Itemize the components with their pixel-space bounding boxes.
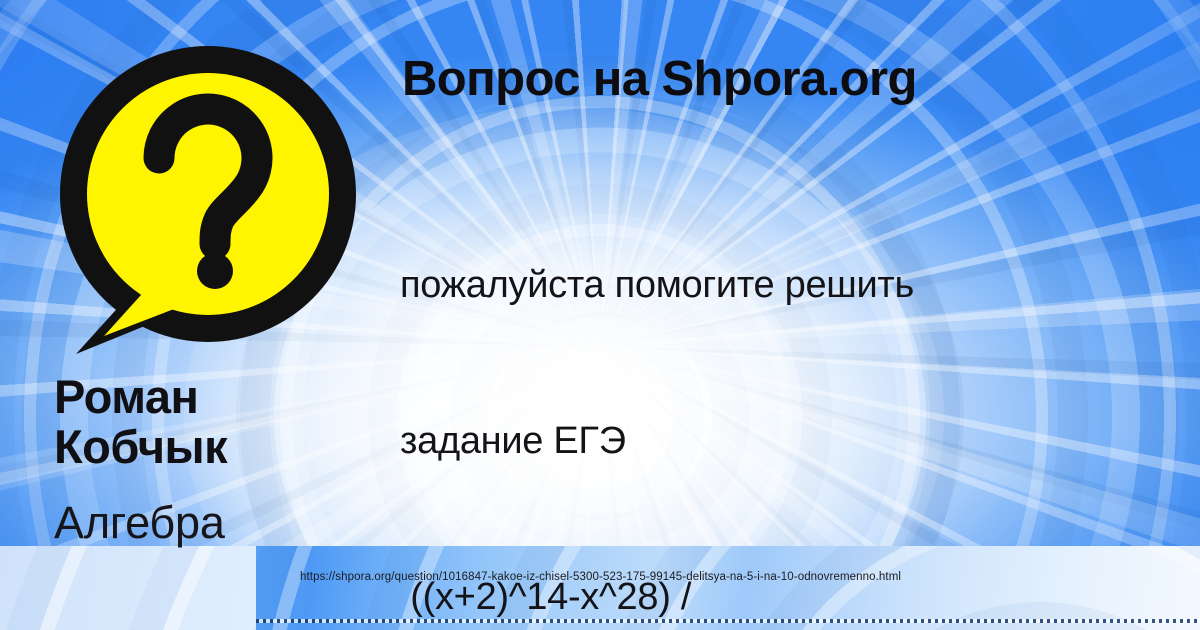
question-body-line-2: задание ЕГЭ (400, 415, 1200, 467)
question-speech-bubble-icon (56, 42, 366, 362)
question-mark-dot (197, 253, 233, 289)
page-title: Вопрос на Shpora.org (402, 50, 1192, 108)
question-body-line-3: ((x+2)^14-x^28) / (400, 571, 1200, 623)
question-body-line-1: пожалуйста помогите решить (400, 259, 1200, 311)
question-share-card: Вопрос на Shpora.org пожалуйста помогите… (0, 0, 1200, 630)
author-subject: Алгебра (54, 498, 384, 548)
author-name: Роман Кобчык (54, 372, 384, 472)
question-body: пожалуйста помогите решить задание ЕГЭ (… (400, 155, 1200, 630)
